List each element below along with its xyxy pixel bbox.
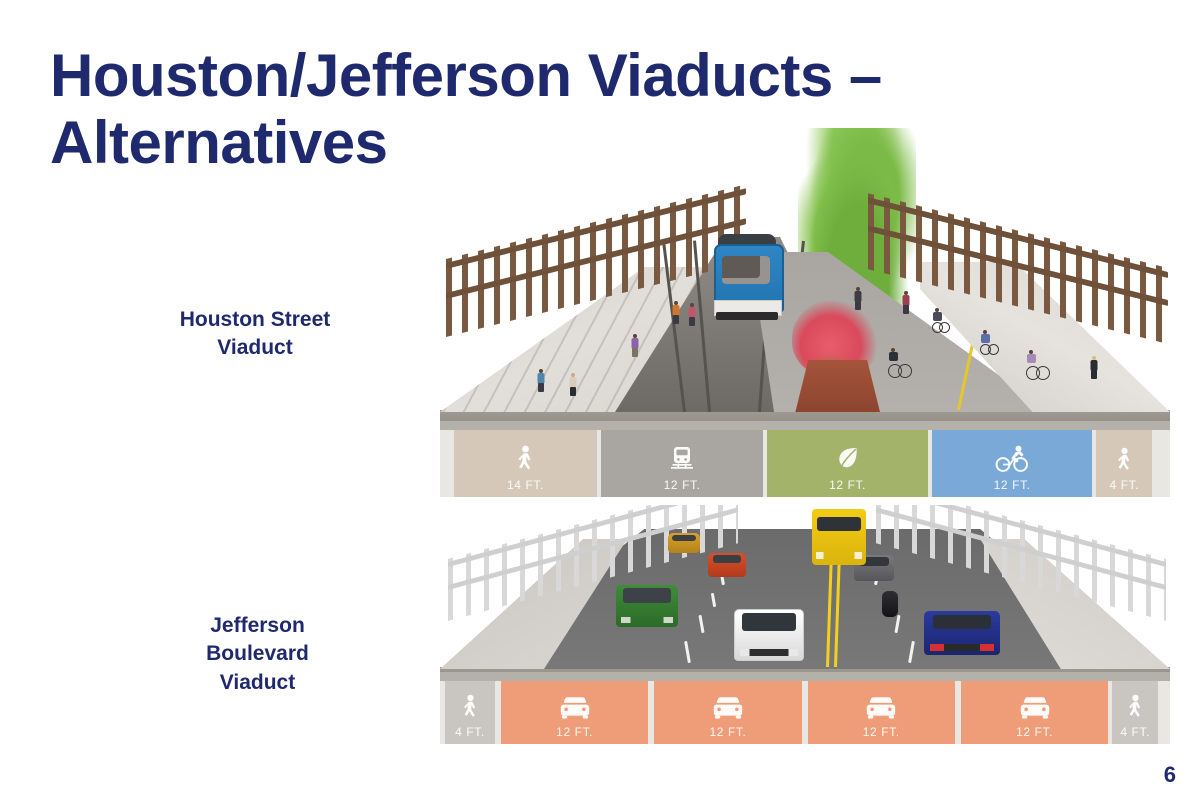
pedestrian-icon: [458, 694, 482, 722]
houston-street-viaduct-label: Houston Street Viaduct: [75, 306, 435, 363]
houston-cross-section-legend: 14 FT. 12 FT.: [440, 430, 1170, 497]
streetcar-trucks: [716, 312, 778, 320]
pedestrian-icon: [1123, 694, 1147, 722]
leaf-icon: [834, 445, 862, 475]
segment-width-label: 12 FT.: [829, 478, 866, 492]
jefferson-segment-travel-lane-1[interactable]: 12 FT.: [501, 681, 648, 744]
houston-label-line-1: Houston Street: [75, 306, 435, 334]
segment-width-label: 4 FT.: [1120, 725, 1150, 739]
jefferson-segment-pedestrian-4ft-left[interactable]: 4 FT.: [445, 681, 495, 744]
jefferson-segment-travel-lane-4[interactable]: 12 FT.: [961, 681, 1108, 744]
houston-viaduct-rendering: [440, 120, 1170, 432]
vehicle-orange-car: [668, 533, 700, 553]
page-title-line-1: Houston/Jefferson Viaducts –: [50, 42, 1010, 109]
pedestrian-figure: [630, 334, 639, 356]
legend-top-rule: [440, 672, 1170, 681]
segment-width-label: 12 FT.: [1016, 725, 1053, 739]
jefferson-segment-pedestrian-4ft-right[interactable]: 4 FT.: [1112, 681, 1158, 744]
car-icon: [1017, 694, 1053, 722]
houston-segment-pedestrian-14ft[interactable]: 14 FT.: [454, 430, 597, 497]
houston-segment-bicycle-12ft[interactable]: 12 FT.: [932, 430, 1093, 497]
vehicle-yellow-bus: [812, 509, 866, 565]
jefferson-label-line-3: Viaduct: [95, 669, 420, 697]
car-icon: [557, 694, 593, 722]
houston-segment-streetcar-12ft[interactable]: 12 FT.: [601, 430, 763, 497]
segment-width-label: 12 FT.: [994, 478, 1031, 492]
car-icon: [863, 694, 899, 722]
segment-width-label: 12 FT.: [664, 478, 701, 492]
pedestrian-figure: [568, 373, 578, 398]
legend-edge-gap-right: [1152, 430, 1170, 497]
bicycle-icon: [995, 445, 1029, 475]
legend-top-rule: [440, 421, 1170, 430]
streetcar-windshield: [722, 256, 770, 284]
jefferson-label-line-2: Boulevard: [95, 640, 420, 668]
segment-width-label: 4 FT.: [1110, 478, 1140, 492]
jefferson-deck: [440, 505, 1170, 683]
segment-width-label: 12 FT.: [863, 725, 900, 739]
vehicle-white-suv: [734, 609, 804, 661]
cyclist-figure: [1026, 350, 1042, 382]
page-number: 6: [1164, 762, 1176, 788]
slide-canvas: Houston/Jefferson Viaducts – Alternative…: [0, 0, 1200, 798]
vehicle-green-suv: [616, 585, 678, 627]
vehicle-blue-sports-car: [924, 611, 1000, 655]
houston-deck: [440, 120, 1170, 432]
jefferson-segment-travel-lane-3[interactable]: 12 FT.: [808, 681, 955, 744]
pedestrian-icon: [512, 445, 538, 475]
vehicle-motorcycle: [882, 591, 898, 617]
legend-edge-gap-right: [1158, 681, 1170, 744]
cyclist-figure: [888, 348, 904, 380]
houston-segment-landscape-12ft[interactable]: 12 FT.: [767, 430, 928, 497]
jefferson-segment-travel-lane-2[interactable]: 12 FT.: [654, 681, 801, 744]
houston-segment-pedestrian-4ft[interactable]: 4 FT.: [1096, 430, 1152, 497]
cyclist-figure: [980, 330, 994, 358]
pedestrian-figure: [854, 287, 861, 304]
pedestrian-figure: [688, 303, 696, 322]
segment-width-label: 4 FT.: [455, 725, 485, 739]
streetcar-vehicle: [712, 230, 782, 322]
pedestrian-figure: [902, 291, 909, 308]
pedestrian-figure: [1088, 356, 1099, 384]
legend-edge-gap-left: [440, 430, 454, 497]
jefferson-cross-section-legend: 4 FT. 12 FT.: [440, 681, 1170, 744]
jefferson-viaduct-rendering: [440, 505, 1170, 683]
vehicle-red-car: [708, 553, 746, 577]
car-icon: [710, 694, 746, 722]
cyclist-figure: [932, 308, 944, 332]
pedestrian-figure: [536, 369, 546, 394]
segment-width-label: 12 FT.: [556, 725, 593, 739]
jefferson-boulevard-viaduct-label: Jefferson Boulevard Viaduct: [95, 612, 420, 697]
pedestrian-icon: [1112, 447, 1136, 475]
jefferson-label-line-1: Jefferson: [95, 612, 420, 640]
pedestrian-figure: [672, 301, 680, 320]
segment-width-label: 14 FT.: [507, 478, 544, 492]
houston-label-line-2: Viaduct: [75, 334, 435, 362]
train-icon: [668, 445, 696, 475]
segment-width-label: 12 FT.: [709, 725, 746, 739]
